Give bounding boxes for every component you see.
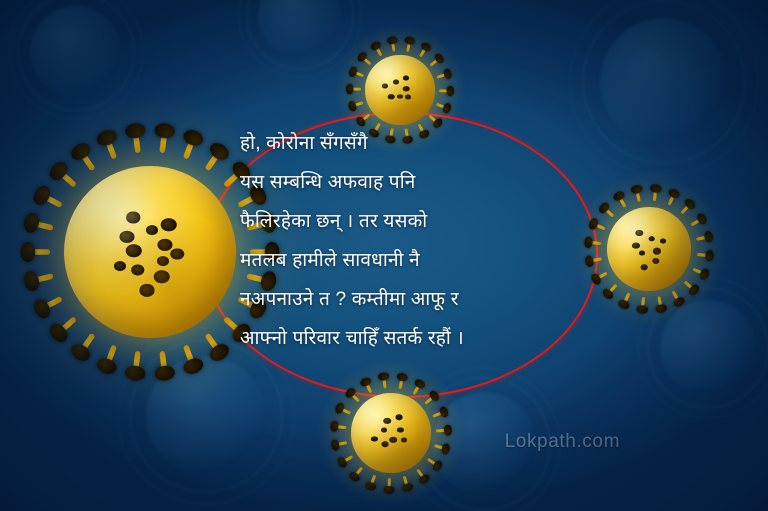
watermark-label: Lokpath.com xyxy=(505,431,620,453)
background-virus-ghost xyxy=(30,6,122,98)
virus-body xyxy=(64,166,237,339)
background-virus-ghost xyxy=(258,0,342,58)
virus-surface-pore xyxy=(160,218,177,232)
virus-surface-pore xyxy=(157,239,172,251)
virus-body xyxy=(365,55,434,124)
virus-surface-pore xyxy=(639,251,645,256)
virus-surface-pore xyxy=(171,249,185,260)
virus-surface-pore xyxy=(403,76,409,81)
virus-surface-pore xyxy=(405,95,411,100)
virus-surface-pore xyxy=(401,437,407,442)
virus-surface-pore xyxy=(114,261,126,271)
image-canvas: हो, कोरोना सँगसँगै यस सम्बन्धि अफवाह पनि… xyxy=(0,0,768,511)
virus-surface-pore xyxy=(403,86,410,91)
virus-surface-pore xyxy=(371,436,377,441)
virus-surface-pore xyxy=(125,244,142,258)
virus-surface-pore xyxy=(393,80,399,85)
background-virus-ghost xyxy=(600,18,728,146)
virus-surface-pore xyxy=(383,418,391,424)
virus-body xyxy=(351,393,430,472)
virus-particle-bottom xyxy=(336,378,446,488)
virus-surface-pore xyxy=(395,414,402,420)
virus-surface-pore xyxy=(653,248,661,255)
virus-surface-pore xyxy=(382,84,388,89)
caption-text: हो, कोरोना सँगसँगै यस सम्बन्धि अफवाह पनि… xyxy=(240,124,576,358)
virus-surface-pore xyxy=(157,256,169,266)
virus-surface-pore xyxy=(388,94,395,99)
virus-surface-pore xyxy=(154,270,171,284)
virus-surface-pore xyxy=(660,238,666,243)
virus-surface-pore xyxy=(397,427,403,432)
virus-surface-pore xyxy=(648,236,655,241)
virus-surface-pore xyxy=(120,230,135,242)
virus-particle-large xyxy=(30,132,270,372)
virus-surface-pore xyxy=(381,427,387,432)
virus-particle-right xyxy=(590,190,708,308)
virus-surface-pore xyxy=(127,212,141,223)
virus-surface-pore xyxy=(146,225,158,235)
virus-surface-pore xyxy=(382,441,389,447)
virus-surface-pore xyxy=(641,265,648,270)
virus-surface-pore xyxy=(131,264,145,275)
virus-surface-pore xyxy=(636,230,643,236)
virus-surface-pore xyxy=(652,257,659,263)
background-virus-ghost xyxy=(660,300,756,396)
virus-surface-pore xyxy=(397,94,403,99)
virus-surface-pore xyxy=(140,284,155,296)
virus-body xyxy=(607,207,692,292)
virus-surface-pore xyxy=(390,437,398,443)
virus-surface-pore xyxy=(632,242,640,249)
